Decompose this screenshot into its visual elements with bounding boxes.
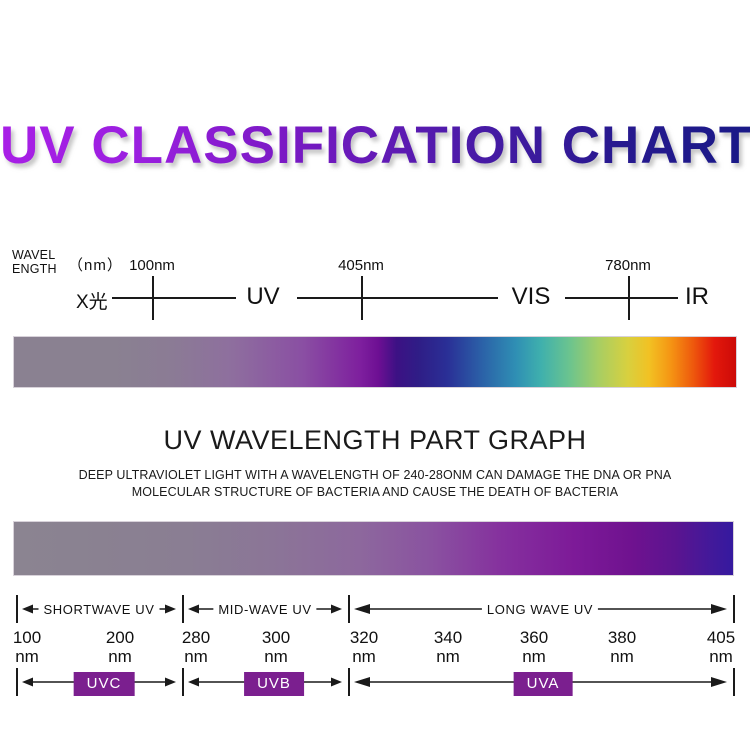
section-subtitle: DEEP ULTRAVIOLET LIGHT WITH A WAVELENGTH…: [0, 467, 750, 501]
band-tick-300nm-unit: nm: [262, 647, 290, 666]
badge-uva: UVA: [514, 672, 573, 696]
band-tick-100nm: 100 nm: [13, 628, 41, 666]
band-tick-405nm-value: 405: [707, 628, 735, 647]
band-name-mid-wave-uv: MID-WAVE UV: [213, 602, 316, 617]
band-tick-300nm: 300 nm: [262, 628, 290, 666]
band-tick-360nm: 360 nm: [520, 628, 548, 666]
scale-tick-label-780nm: 780nm: [605, 257, 651, 274]
section-heading: UV WAVELENGTH PART GRAPH: [0, 425, 750, 456]
band-tick-360nm-value: 360: [520, 628, 548, 647]
band-tick-380nm: 380 nm: [608, 628, 636, 666]
scale-tick-label-405nm: 405nm: [338, 257, 384, 274]
wavelength-axis-label-line1: WAVEL: [12, 248, 70, 262]
band-name-long-wave-uv: LONG WAVE UV: [482, 602, 598, 617]
badge-uvc: UVC: [74, 672, 135, 696]
band-tick-320nm-value: 320: [350, 628, 378, 647]
band-tick-100nm-value: 100: [13, 628, 41, 647]
title-block: UV CLASSIFICATION CHART: [0, 118, 750, 174]
scale-tick-100nm: [152, 276, 154, 320]
band-tick-300nm-value: 300: [262, 628, 290, 647]
wavelength-axis-label-line2: ENGTH: [12, 262, 70, 276]
band-tick-200nm-value: 200: [106, 628, 134, 647]
band-divider-280nm-top: [182, 595, 184, 623]
band-tick-340nm-value: 340: [434, 628, 462, 647]
band-name-shortwave-uv: SHORTWAVE UV: [39, 602, 160, 617]
band-tick-360nm-unit: nm: [520, 647, 548, 666]
band-tick-200nm: 200 nm: [106, 628, 134, 666]
band-tick-200nm-unit: nm: [106, 647, 134, 666]
scale-tick-label-100nm: 100nm: [129, 257, 175, 274]
band-tick-280nm: 280 nm: [182, 628, 210, 666]
wavelength-unit-label: （nm）: [68, 254, 123, 275]
band-divider-100nm-bottom: [16, 668, 18, 696]
uv-band-diagram: SHORTWAVE UV MID-WAVE UV LONG WAVE UV 10…: [0, 592, 750, 722]
region-label-xray: X光: [72, 287, 112, 314]
band-tick-280nm-value: 280: [182, 628, 210, 647]
band-divider-100nm-top: [16, 595, 18, 623]
band-tick-380nm-unit: nm: [608, 647, 636, 666]
band-tick-340nm-unit: nm: [434, 647, 462, 666]
band-tick-280nm-unit: nm: [182, 647, 210, 666]
band-tick-100nm-unit: nm: [13, 647, 41, 666]
badge-uvb: UVB: [244, 672, 304, 696]
band-tick-340nm: 340 nm: [434, 628, 462, 666]
scale-tick-405nm: [361, 276, 363, 320]
scale-line-uv-vis: [297, 297, 498, 299]
band-tick-380nm-value: 380: [608, 628, 636, 647]
region-label-uv: UV: [239, 283, 286, 311]
band-tick-320nm: 320 nm: [350, 628, 378, 666]
scale-line-vis-ir: [565, 297, 682, 299]
band-divider-320nm-bottom: [348, 668, 350, 696]
section-subtitle-line2: MOLECULAR STRUCTURE OF BACTERIA AND CAUS…: [0, 484, 750, 501]
band-tick-405nm: 405 nm: [707, 628, 735, 666]
wavelength-axis-label: WAVEL ENGTH: [12, 248, 70, 276]
scale-line-xray-uv: [104, 297, 236, 299]
band-tick-405nm-unit: nm: [707, 647, 735, 666]
band-divider-405nm-bottom: [733, 668, 735, 696]
region-label-vis: VIS: [505, 283, 558, 311]
band-divider-320nm-top: [348, 595, 350, 623]
section-subtitle-line1: DEEP ULTRAVIOLET LIGHT WITH A WAVELENGTH…: [0, 467, 750, 484]
wavelength-scale: WAVEL ENGTH （nm） X光 100nm 405nm 780nm UV…: [0, 243, 750, 328]
band-tick-320nm-unit: nm: [350, 647, 378, 666]
band-divider-280nm-bottom: [182, 668, 184, 696]
page-title: UV CLASSIFICATION CHART: [0, 118, 750, 174]
region-label-ir: IR: [678, 283, 716, 311]
uv-spectrum-gradient-bar: [13, 521, 734, 576]
band-divider-405nm-top: [733, 595, 735, 623]
full-spectrum-gradient-bar: [13, 336, 737, 388]
scale-tick-780nm: [628, 276, 630, 320]
